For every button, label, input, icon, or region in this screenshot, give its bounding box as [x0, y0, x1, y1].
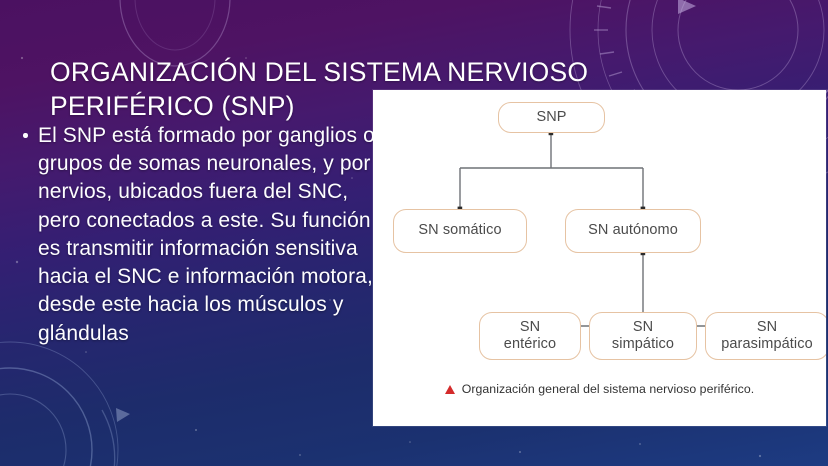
- node-label-line1: SN: [520, 319, 540, 336]
- node-label: SNP: [536, 109, 566, 126]
- diagram-node-snp[interactable]: SNP: [498, 102, 605, 133]
- diagram-node-sn-parasimpatico[interactable]: SN parasimpático: [705, 312, 826, 360]
- node-label-line1: SN: [633, 319, 653, 336]
- diagram-node-sn-somatico[interactable]: SN somático: [393, 209, 527, 253]
- node-label: SN somático: [418, 222, 501, 239]
- node-label-line2: entérico: [504, 336, 556, 353]
- diagram-connectors: [373, 90, 826, 426]
- figure-panel: SNP SN somático SN autónomo SN entérico …: [373, 90, 826, 426]
- presentation-slide: ORGANIZACIÓN DEL SISTEMA NERVIOSO PERIFÉ…: [0, 0, 828, 466]
- body-bullet-item: El SNP está formado por ganglios o grupo…: [16, 122, 376, 348]
- diagram-node-sn-enterico[interactable]: SN entérico: [479, 312, 581, 360]
- decorative-arcs-bottom-left: [0, 330, 220, 466]
- body-bullet-list: El SNP está formado por ganglios o grupo…: [16, 122, 376, 348]
- node-label-line2: simpático: [612, 336, 674, 353]
- node-label: SN autónomo: [588, 222, 678, 239]
- node-label-line2: parasimpático: [721, 336, 813, 353]
- diagram-node-sn-simpatico[interactable]: SN simpático: [589, 312, 697, 360]
- node-label-line1: SN: [757, 319, 777, 336]
- diagram-node-sn-autonomo[interactable]: SN autónomo: [565, 209, 701, 253]
